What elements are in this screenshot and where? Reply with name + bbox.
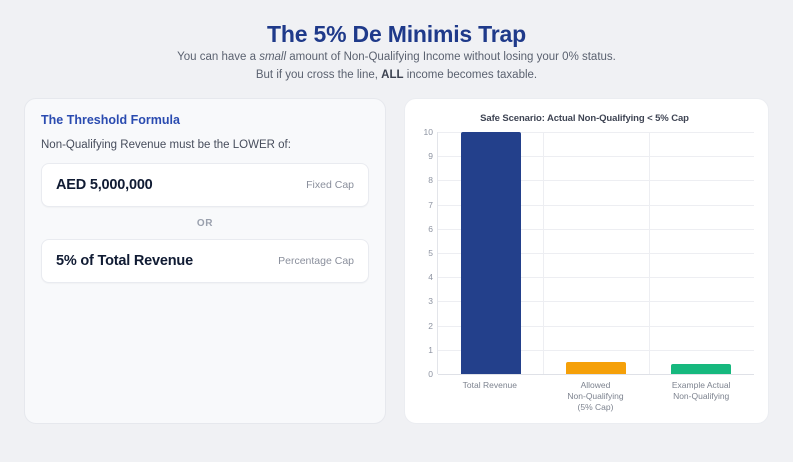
- threshold-formula-description: Non-Qualifying Revenue must be the LOWER…: [41, 139, 369, 151]
- percentage-cap-value: 5% of Total Revenue: [56, 253, 193, 269]
- y-tick-label: 7: [428, 200, 433, 210]
- subtitle-emphasis-small: small: [259, 51, 286, 63]
- fixed-cap-option: AED 5,000,000 Fixed Cap: [41, 163, 369, 207]
- gridline: [438, 374, 754, 375]
- y-tick-label: 2: [428, 321, 433, 331]
- chart-plot-area: 012345678910: [415, 132, 754, 374]
- chart-title: Safe Scenario: Actual Non-Qualifying < 5…: [415, 113, 754, 124]
- fixed-cap-value: AED 5,000,000: [56, 177, 153, 193]
- y-tick-label: 6: [428, 224, 433, 234]
- subtitle-line-2-pre: But if you cross the line,: [256, 69, 381, 81]
- plot: [437, 132, 754, 374]
- x-axis-label: Total Revenue: [437, 380, 543, 413]
- y-tick-label: 0: [428, 369, 433, 379]
- y-tick-label: 4: [428, 272, 433, 282]
- subtitle-line-2: But if you cross the line, ALL income be…: [0, 66, 793, 84]
- bar-1[interactable]: [461, 132, 521, 374]
- threshold-formula-card: The Threshold Formula Non-Qualifying Rev…: [24, 98, 386, 424]
- x-axis-label: Example ActualNon-Qualifying: [648, 380, 754, 413]
- bar-3[interactable]: [671, 364, 731, 374]
- or-divider: OR: [41, 207, 369, 239]
- x-axis-label: AllowedNon-Qualifying(5% Cap): [543, 380, 649, 413]
- y-axis: 012345678910: [415, 132, 437, 374]
- y-tick-label: 1: [428, 345, 433, 355]
- bar-series: [438, 132, 754, 374]
- x-axis: Total RevenueAllowedNon-Qualifying(5% Ca…: [437, 374, 754, 413]
- header: The 5% De Minimis Trap You can have a sm…: [0, 0, 793, 84]
- threshold-formula-title: The Threshold Formula: [41, 113, 369, 127]
- y-tick-label: 3: [428, 296, 433, 306]
- bar-2[interactable]: [566, 362, 626, 374]
- y-tick-label: 5: [428, 248, 433, 258]
- subtitle-line-1-post: amount of Non-Qualifying Income without …: [286, 51, 616, 63]
- y-tick-label: 10: [424, 127, 433, 137]
- fixed-cap-label: Fixed Cap: [306, 179, 354, 191]
- y-tick-label: 8: [428, 175, 433, 185]
- chart-card: Safe Scenario: Actual Non-Qualifying < 5…: [404, 98, 769, 424]
- bar-slot: [649, 132, 754, 374]
- page-title: The 5% De Minimis Trap: [0, 20, 793, 48]
- percentage-cap-option: 5% of Total Revenue Percentage Cap: [41, 239, 369, 283]
- subtitle-line-1-pre: You can have a: [177, 51, 259, 63]
- bar-slot: [438, 132, 543, 374]
- y-tick-label: 9: [428, 151, 433, 161]
- subtitle-strong-all: ALL: [381, 69, 403, 81]
- percentage-cap-label: Percentage Cap: [278, 255, 354, 267]
- page-subtitle: You can have a small amount of Non-Quali…: [0, 48, 793, 84]
- de-minimis-infographic: The 5% De Minimis Trap You can have a sm…: [0, 0, 793, 462]
- subtitle-line-1: You can have a small amount of Non-Quali…: [0, 48, 793, 66]
- subtitle-line-2-post: income becomes taxable.: [404, 69, 538, 81]
- content-row: The Threshold Formula Non-Qualifying Rev…: [0, 84, 793, 424]
- bar-slot: [543, 132, 648, 374]
